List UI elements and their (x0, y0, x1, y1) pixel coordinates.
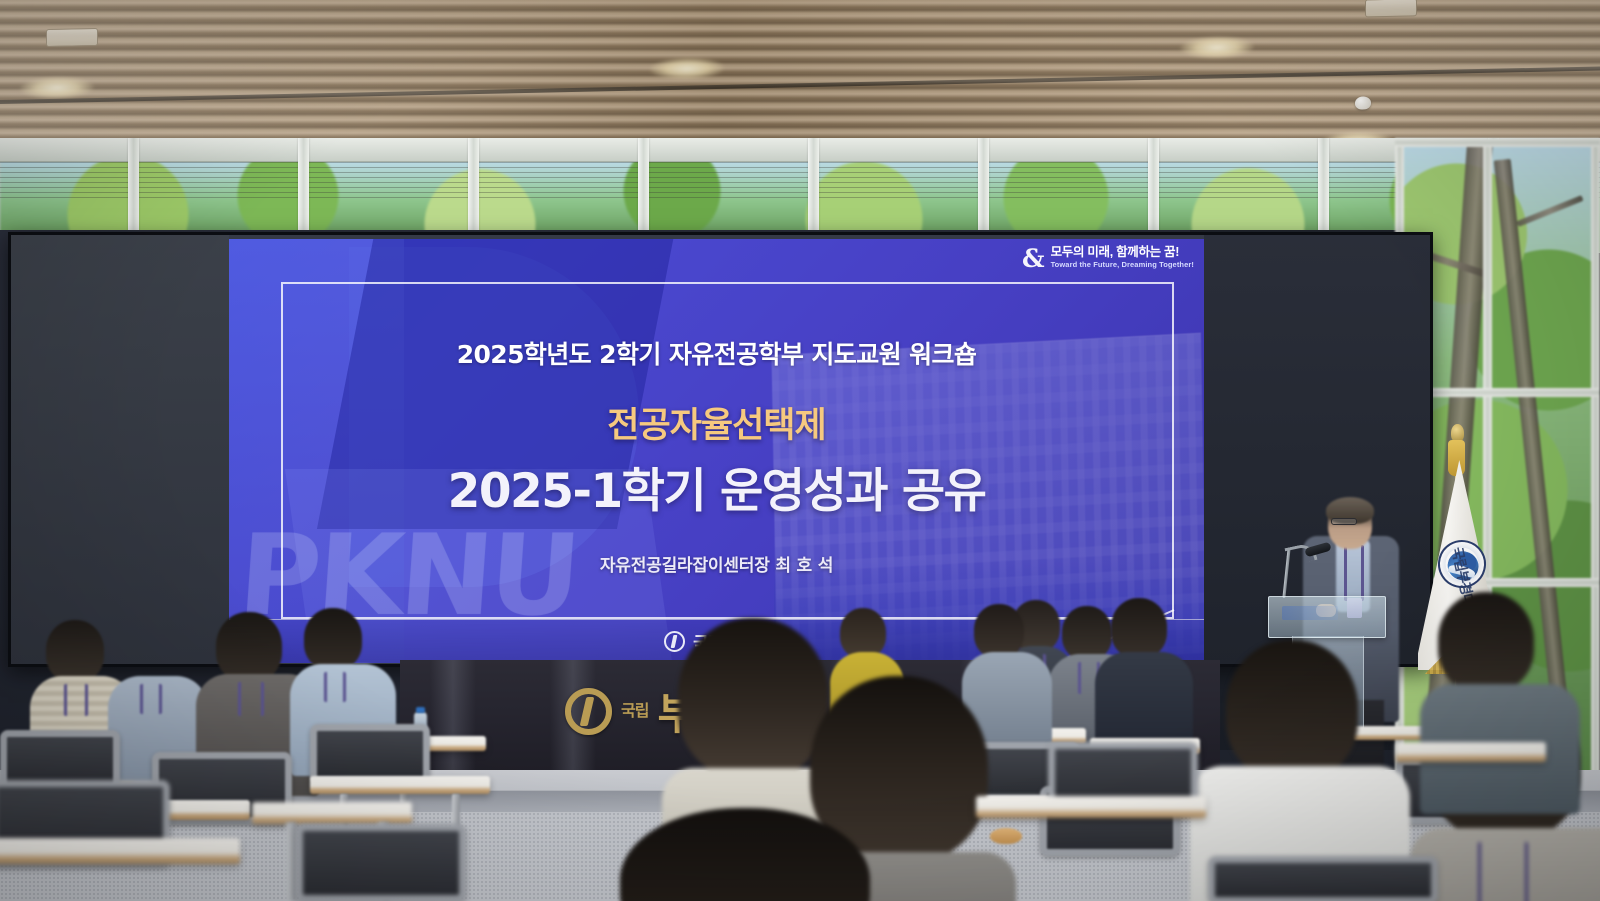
led-wall-left-dark-area (11, 235, 229, 667)
ceiling-diffuser (46, 28, 98, 47)
table (976, 796, 1206, 818)
chair (1208, 856, 1438, 901)
wood-slat-ceiling (0, 0, 1600, 150)
table (1396, 742, 1546, 762)
chair (296, 824, 466, 901)
slide-subtitle-line: 2025학년도 2학기 자유전공학부 지도교원 워크숍 (457, 335, 977, 371)
speaker-lanyard (1344, 545, 1364, 601)
table (252, 802, 412, 824)
slide-accent-title: 전공자율선택제 (607, 397, 825, 448)
led-video-wall: PKNU & 모두의 미래, 함께하는 꿈! Toward the Future… (8, 232, 1433, 667)
slide-main-title: 2025-1학기 운영성과 공유 (448, 452, 986, 521)
table (310, 776, 490, 794)
table (0, 838, 240, 864)
speaker-glasses (1331, 518, 1357, 525)
gold-emblem-icon (565, 688, 612, 735)
chair (310, 724, 430, 784)
podium-logo (1282, 606, 1338, 620)
smoke-detector-icon (1355, 96, 1371, 109)
slide-presenter-line: 자유전공길라잡이센터장 최 호 석 (600, 551, 833, 576)
gold-logo-small-text: 국립 (621, 703, 648, 718)
presentation-photo-scene: PKNU & 모두의 미래, 함께하는 꿈! Toward the Future… (0, 0, 1600, 901)
ceiling-diffuser (1365, 0, 1417, 17)
flag-tassel-icon (1448, 440, 1465, 476)
